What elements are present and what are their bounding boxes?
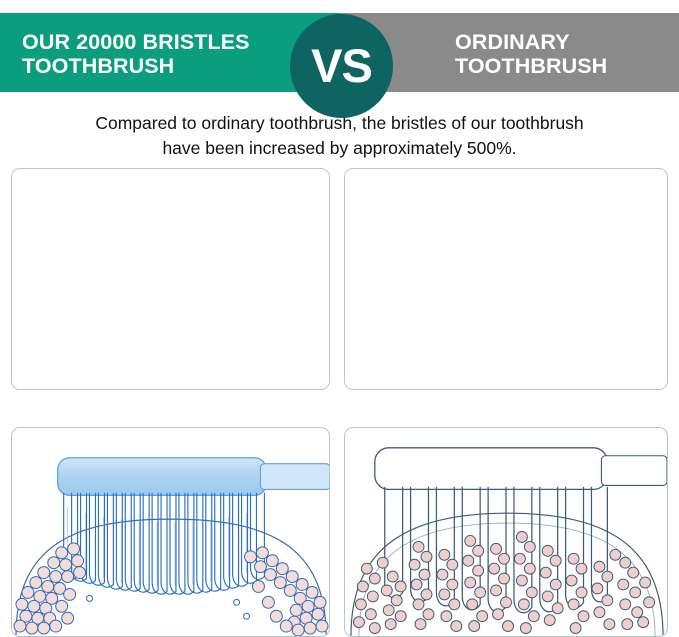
dense-bristle-cleaning-diagram (12, 428, 329, 636)
our-product-title: OUR 20000 BRISTLES TOOTHBRUSH (22, 30, 282, 78)
comparison-subtitle: Compared to ordinary toothbrush, the bri… (0, 111, 679, 161)
photo-background (12, 169, 329, 389)
plaque-cluster-right (234, 547, 328, 636)
ordinary-toothbrush-cleaning-diagram (344, 427, 668, 637)
plaque-cluster-left (14, 543, 93, 634)
sparse-bristle-cleaning-diagram (345, 428, 667, 636)
our-toothbrush-head-photo (11, 168, 330, 390)
ordinary-toothbrush-head-photo (344, 168, 668, 390)
comparison-banner: OUR 20000 BRISTLES TOOTHBRUSH ORDINARY T… (0, 13, 679, 92)
photo-background (345, 169, 667, 389)
our-toothbrush-cleaning-diagram (11, 427, 330, 637)
brush-neck (260, 464, 329, 490)
vs-badge: VS (290, 14, 393, 118)
dense-bristle-filaments (64, 493, 265, 594)
brush-head-bar (375, 448, 608, 490)
vs-label: VS (311, 42, 372, 89)
plaque-residue (353, 532, 654, 634)
brush-head-bar (58, 458, 267, 496)
ordinary-product-title: ORDINARY TOOTHBRUSH (455, 30, 675, 78)
brush-neck (601, 456, 667, 486)
